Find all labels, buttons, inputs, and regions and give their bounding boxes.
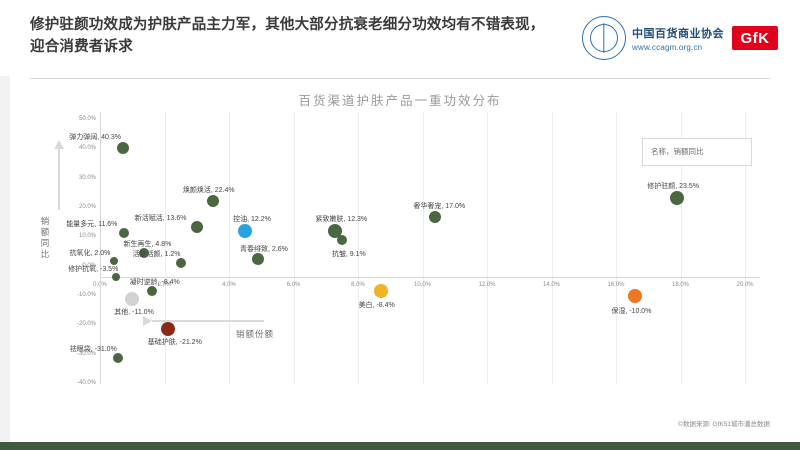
scatter-point-label: 修护驻颜, 23.5% (647, 181, 699, 191)
bottom-bar (0, 442, 800, 450)
scatter-point[interactable] (207, 195, 219, 207)
y-tick-label: -20.0% (66, 321, 96, 327)
x-tick-label: 18.0% (664, 282, 698, 288)
chart-title: 百货渠道护肤产品一重功效分布 (0, 90, 800, 109)
gridline-vertical (616, 112, 617, 384)
scatter-point[interactable] (252, 253, 264, 265)
y-tick-label: 30.0% (66, 175, 96, 181)
scatter-point-label: 保湿, -10.0% (611, 306, 651, 316)
y-tick-label: 50.0% (66, 116, 96, 122)
scatter-point-label: 美白, -8.4% (359, 300, 395, 310)
scatter-point-label: 能量多元, 11.6% (66, 219, 117, 229)
x-tick-label: 8.0% (341, 282, 375, 288)
scatter-point-label: 奢华奢宠, 17.0% (413, 201, 465, 211)
x-axis-label: 销额份额 (236, 328, 274, 340)
scatter-point[interactable] (238, 224, 252, 238)
header-divider (30, 78, 770, 79)
scatter-point-label: 凝时逆龄, -8.4% (130, 277, 180, 287)
scatter-point-label: 新活赋活, 13.6% (135, 213, 187, 223)
scatter-point[interactable] (113, 353, 123, 363)
scatter-point-label: 抗氧化, 2.0% (70, 248, 111, 258)
ccagm-name: 中国百货商业协会 (632, 25, 724, 41)
scatter-point[interactable] (117, 142, 129, 154)
legend-label: 名称，销额同比 (651, 146, 704, 157)
y-tick-label: 20.0% (66, 204, 96, 210)
page-title: 修护驻颜功效成为护肤产品主力军，其他大部分抗衰老细分功效均有不错表现，迎合消费者… (30, 14, 550, 58)
scatter-point[interactable] (176, 258, 186, 268)
scatter-point[interactable] (112, 273, 120, 281)
scatter-point-label: 控油, 12.2% (233, 214, 271, 224)
source-note: ©数据来源: GfK51城市潘总数据 (678, 418, 770, 428)
scatter-plot: 50.0%40.0%30.0%20.0%10.0%0.0%-10.0%-20.0… (40, 112, 760, 412)
scatter-point-label: 抗皱, 9.1% (332, 249, 366, 259)
ccagm-logo: 中国百货商业协会 www.ccagm.org.cn (582, 16, 724, 60)
scatter-point-label: 青春绯致, 2.6% (240, 244, 288, 254)
logo-group: 中国百货商业协会 www.ccagm.org.cn GfK (582, 10, 778, 66)
gridline-vertical (294, 112, 295, 384)
x-tick-label: 4.0% (212, 282, 246, 288)
scatter-point-label: 焕颜焕活, 22.4% (183, 185, 235, 195)
slide-header: 修护驻颜功效成为护肤产品主力军，其他大部分抗衰老细分功效均有不错表现，迎合消费者… (0, 0, 800, 76)
scatter-point-label: 其他, -11.0% (114, 307, 154, 317)
scatter-point-label: 修护抗氧, -3.5% (68, 264, 118, 274)
scatter-point[interactable] (125, 292, 139, 306)
scatter-point-label: 祛眼袋, -31.0% (70, 344, 117, 354)
scatter-point[interactable] (147, 286, 157, 296)
y-tick-label: -10.0% (66, 292, 96, 298)
scatter-point-label: 基础护肤, -21.2% (148, 337, 202, 347)
scatter-point[interactable] (628, 289, 642, 303)
ccagm-url: www.ccagm.org.cn (632, 43, 724, 52)
slide: 修护驻颜功效成为护肤产品主力军，其他大部分抗衰老细分功效均有不错表现，迎合消费者… (0, 0, 800, 450)
scatter-point-label: 紧致嫩肤, 12.3% (315, 214, 367, 224)
scatter-point[interactable] (337, 235, 347, 245)
scatter-point-label: 弹力弹阔, 40.3% (69, 132, 121, 142)
y-tick-label: -40.0% (66, 380, 96, 386)
x-tick-label: 10.0% (406, 282, 440, 288)
gridline-vertical (229, 112, 230, 384)
x-tick-label: 6.0% (277, 282, 311, 288)
x-tick-label: 14.0% (535, 282, 569, 288)
x-axis-line (100, 277, 760, 278)
legend-box: 名称，销额同比 (642, 138, 752, 166)
gfk-logo: GfK (732, 26, 778, 50)
y-axis-label: 销额同比 (38, 216, 52, 260)
ccagm-mark-icon (582, 16, 626, 60)
scatter-point[interactable] (670, 191, 684, 205)
gridline-vertical (423, 112, 424, 384)
scatter-point[interactable] (429, 211, 441, 223)
scatter-point-label: 新生再生, 4.8% (124, 239, 172, 249)
x-tick-label: 16.0% (599, 282, 633, 288)
scatter-point[interactable] (161, 322, 175, 336)
y-tick-label: 40.0% (66, 145, 96, 151)
scatter-point[interactable] (191, 221, 203, 233)
x-tick-label: 12.0% (470, 282, 504, 288)
scatter-point-label: 活肤活颜, 1.2% (133, 249, 181, 259)
y-tick-label: 10.0% (66, 233, 96, 239)
scatter-point[interactable] (374, 284, 388, 298)
x-tick-label: 20.0% (728, 282, 762, 288)
scatter-point[interactable] (119, 228, 129, 238)
gridline-vertical (552, 112, 553, 384)
gridline-vertical (487, 112, 488, 384)
